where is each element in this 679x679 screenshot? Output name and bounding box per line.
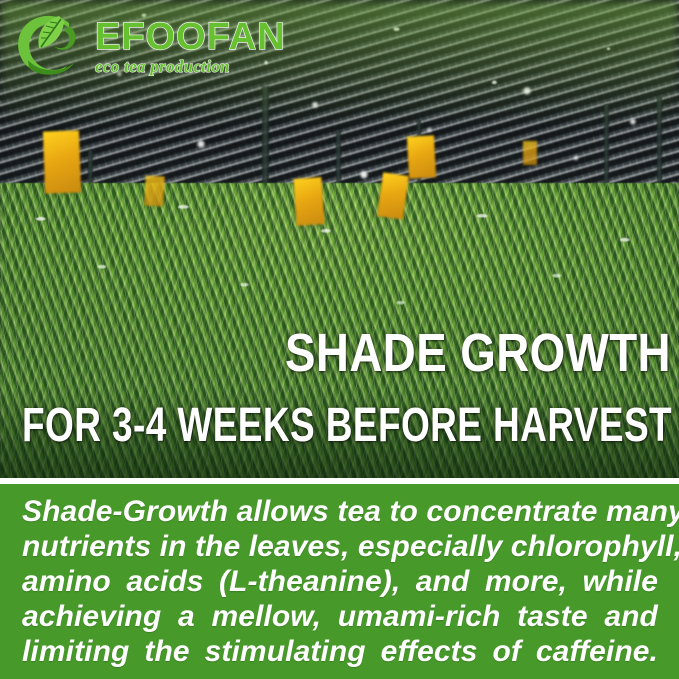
caption-word: effects <box>381 634 478 669</box>
caption-line: achievingamellow,umami-richtasteand <box>22 599 658 634</box>
caption-word: of <box>492 634 521 669</box>
caption-word: acids <box>126 564 203 599</box>
caption-line: limitingthestimulatingeffectsofcaffeine. <box>22 634 658 669</box>
yellow-sticky-trap <box>523 141 537 165</box>
caption-word: mellow, <box>211 599 321 634</box>
headline-primary: SHADE GROWTH <box>285 322 671 384</box>
caption-word: achieving <box>22 599 161 634</box>
yellow-sticky-trap <box>407 135 436 178</box>
caption-line: aminoacids(L-theanine),andmore,while <box>22 564 658 599</box>
caption-word: umami-rich <box>338 599 501 634</box>
caption-word: taste <box>517 599 588 634</box>
caption-word: the <box>144 634 189 669</box>
caption-word: and <box>604 599 658 634</box>
product-infographic-poster: EFOOFAN eco tea production SHADE GROWTH … <box>0 0 679 679</box>
yellow-sticky-trap <box>144 176 165 207</box>
caption-word: limiting <box>22 634 129 669</box>
caption-text: Shade-Growth allows tea to concentrate m… <box>22 494 658 669</box>
caption-word: and <box>416 564 470 599</box>
caption-word: more, <box>485 564 567 599</box>
caption-word: while <box>582 564 658 599</box>
white-divider <box>0 478 679 484</box>
caption-word: stimulating <box>205 634 366 669</box>
brand-name: EFOOFAN <box>95 18 286 56</box>
yellow-sticky-trap <box>43 130 81 193</box>
caption-band: Shade-Growth allows tea to concentrate m… <box>0 484 679 679</box>
caption-word: (L-theanine), <box>219 564 400 599</box>
tea-field-under-shade-netting-photo: EFOOFAN eco tea production SHADE GROWTH … <box>0 0 679 482</box>
brand-tagline: eco tea production <box>95 58 286 75</box>
caption-line: Shade-Growth allows tea to concentrate m… <box>22 494 658 529</box>
brand-logo: EFOOFAN eco tea production <box>12 8 274 82</box>
caption-word: a <box>178 599 195 634</box>
caption-line: nutrients in the leaves, especially chlo… <box>22 529 658 564</box>
caption-word: amino <box>22 564 111 599</box>
yellow-sticky-trap <box>293 177 324 226</box>
caption-word: caffeine. <box>536 634 658 669</box>
leaf-swirl-logo-icon <box>12 10 90 80</box>
headline-secondary: FOR 3-4 WEEKS BEFORE HARVEST <box>22 398 672 453</box>
